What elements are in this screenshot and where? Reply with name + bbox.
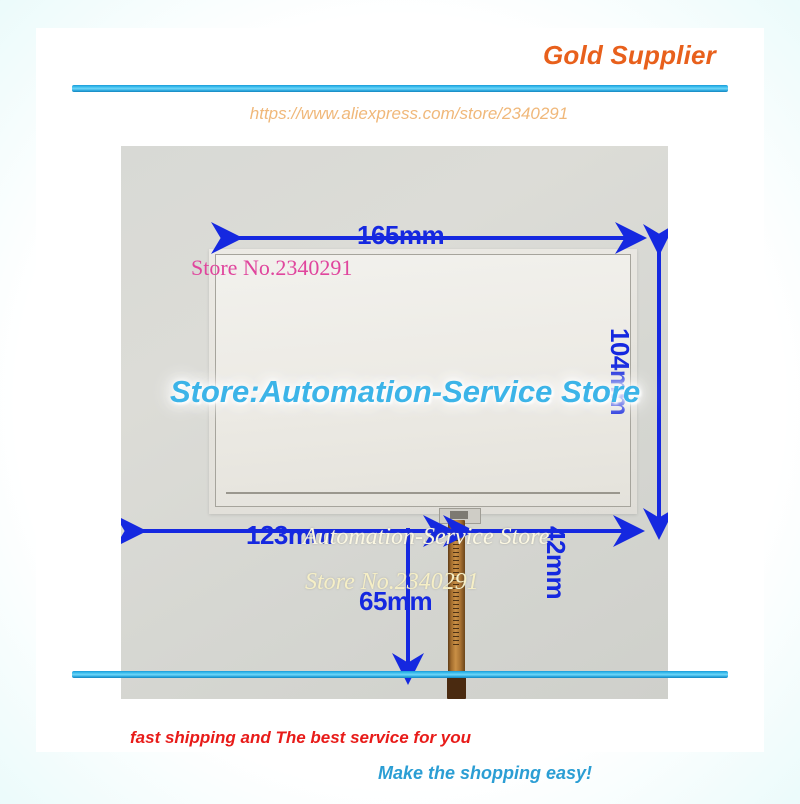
divider-bottom (72, 671, 728, 678)
gold-supplier-badge: Gold Supplier (36, 40, 764, 71)
watermark-store-name-main: Store:Automation-Service Store (170, 374, 640, 410)
product-listing-image: Gold Supplier https://www.aliexpress.com… (0, 0, 800, 804)
watermark-store-number-cream: Store No.2340291 (305, 569, 479, 596)
divider-top (72, 85, 728, 92)
dimension-label-165mm: 165mm (357, 220, 444, 251)
watermark-store-number-pink: Store No.2340291 (191, 255, 352, 281)
footer-shopping-tagline: Make the shopping easy! (36, 763, 764, 784)
footer-shipping-tagline: fast shipping and The best service for y… (130, 728, 471, 748)
watermark-store-name-cream: Automation-Service Store (303, 524, 549, 551)
product-photo: 165mm 104mm 123mm 65mm 42mm Store No.234… (121, 146, 668, 699)
store-url-text: https://www.aliexpress.com/store/2340291 (36, 104, 764, 124)
listing-card: Gold Supplier https://www.aliexpress.com… (36, 28, 764, 752)
